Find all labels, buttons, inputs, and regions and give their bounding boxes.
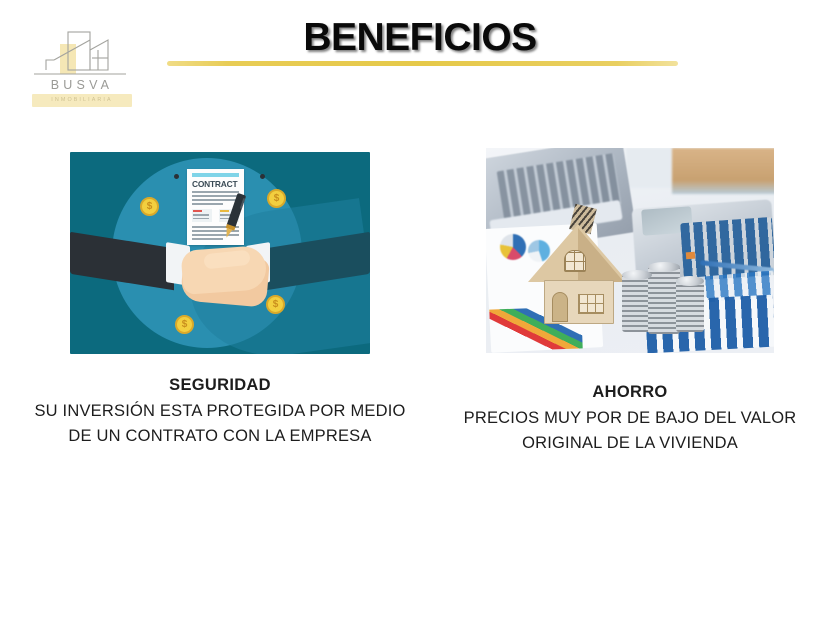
coin-stack-top xyxy=(676,276,704,286)
contract-header-bar xyxy=(192,173,239,177)
dollar-coin-icon: $ xyxy=(267,189,286,208)
benefit-card-seguridad: CONTRACT xyxy=(24,140,416,449)
coin-stack-top xyxy=(622,270,652,280)
benefit-body: PRECIOS MUY POR DE BAJO DEL VALOR ORIGIN… xyxy=(444,406,816,456)
contract-box-row xyxy=(193,218,209,220)
dollar-coin-icon: $ xyxy=(266,295,285,314)
contract-text-line xyxy=(192,191,239,193)
wooden-model-house xyxy=(528,206,628,328)
contract-text-line xyxy=(192,203,223,205)
pen-tip xyxy=(224,228,233,238)
house-window xyxy=(578,294,604,314)
house-door xyxy=(552,292,568,322)
coin-stack xyxy=(676,280,704,332)
wood-table-edge xyxy=(672,148,774,194)
dollar-coin-icon: $ xyxy=(175,315,194,334)
pie-chart-graphic xyxy=(500,234,526,260)
benefit-caption-seguridad: SEGURIDAD SU INVERSIÓN ESTA PROTEGIDA PO… xyxy=(24,374,416,449)
handshake-contract-illustration: CONTRACT xyxy=(70,152,370,354)
contract-text-line xyxy=(192,238,223,240)
logo-tagline: INMOBILIARIA xyxy=(32,95,132,106)
contract-text-line xyxy=(192,199,239,201)
benefit-card-ahorro: AHORRO PRECIOS MUY POR DE BAJO DEL VALOR… xyxy=(444,140,816,456)
dollar-coin-icon: $ xyxy=(140,197,159,216)
page-title: BENEFICIOS xyxy=(0,16,840,60)
cuff-button xyxy=(260,174,265,179)
logo-wordmark: BUSVA xyxy=(22,78,142,92)
house-savings-photo xyxy=(486,148,774,353)
contract-box-tag xyxy=(193,210,202,212)
coin-stack-top xyxy=(648,262,680,272)
background-wall xyxy=(626,148,678,188)
benefit-heading: AHORRO xyxy=(444,381,816,403)
title-underline-rule xyxy=(167,61,678,66)
calculator-key-accent xyxy=(686,252,695,260)
benefit-body: SU INVERSIÓN ESTA PROTEGIDA POR MEDIO DE… xyxy=(24,399,416,449)
cuff-button xyxy=(174,174,179,179)
contract-box-row xyxy=(193,214,209,216)
contract-form-box xyxy=(192,209,212,222)
house-gable-window xyxy=(564,250,586,272)
contract-text-line xyxy=(192,195,239,197)
benefit-heading: SEGURIDAD xyxy=(24,374,416,396)
benefit-caption-ahorro: AHORRO PRECIOS MUY POR DE BAJO DEL VALOR… xyxy=(444,381,816,456)
contract-box-tag xyxy=(220,210,229,212)
contract-document-label: CONTRACT xyxy=(192,179,239,189)
slide-header: BUSVA INMOBILIARIA BENEFICIOS xyxy=(0,0,840,130)
